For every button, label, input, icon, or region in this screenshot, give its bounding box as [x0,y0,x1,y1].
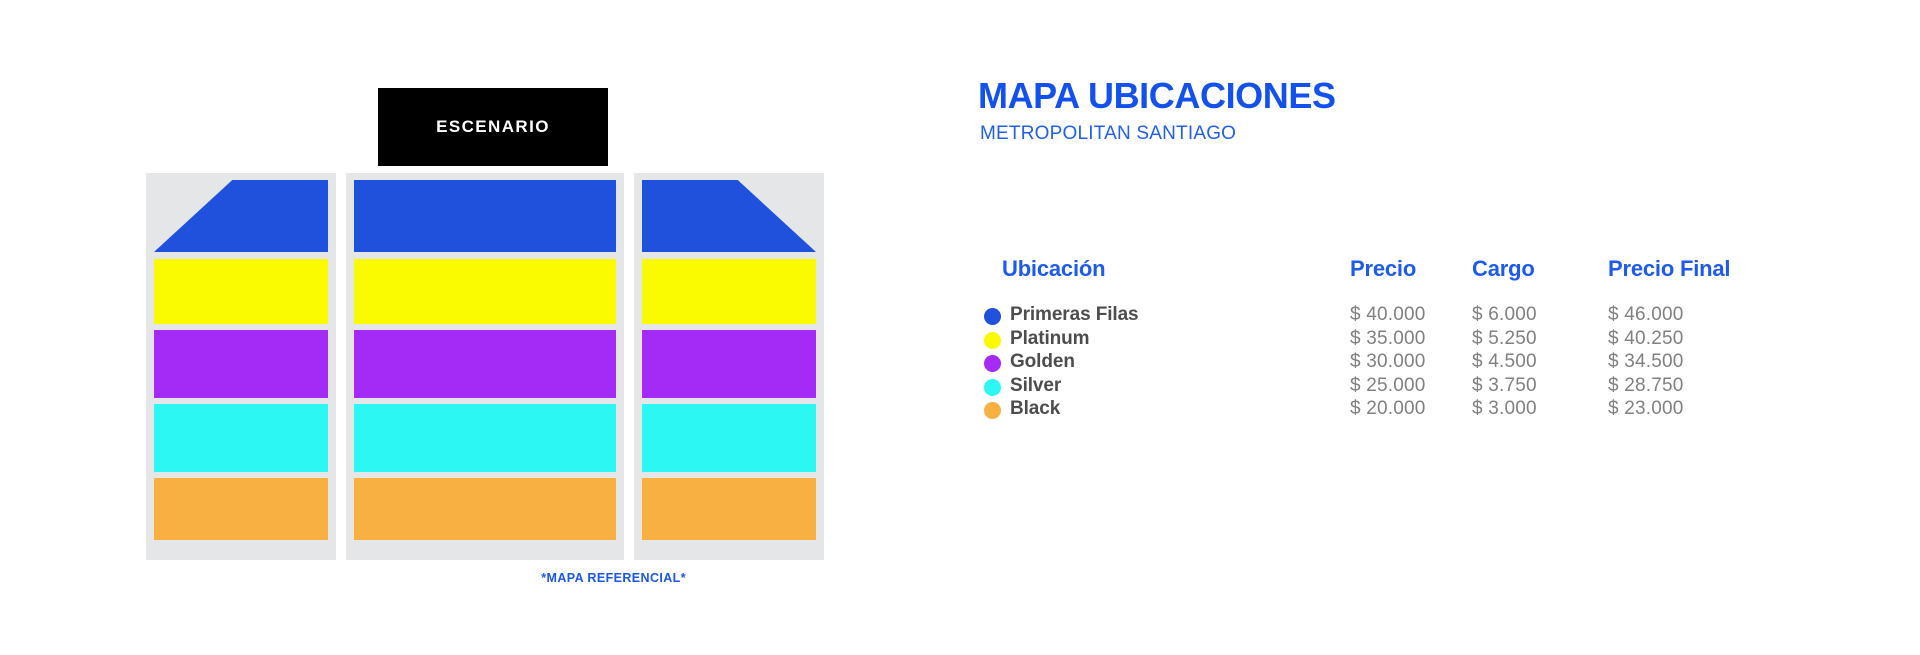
zone-name: Platinum [1010,328,1089,350]
zone-platinum-right[interactable] [642,259,816,324]
zone-primeras-filas-center[interactable] [354,180,616,252]
zone-name: Silver [1010,375,1061,397]
page-subtitle: METROPOLITAN SANTIAGO [980,124,1236,143]
seating-section-left[interactable] [146,173,336,560]
zone-color-dot-icon [984,332,1001,349]
zone-final-price: $ 23.000 [1608,398,1684,420]
zone-final-price: $ 28.750 [1608,375,1684,397]
zone-price: $ 20.000 [1350,398,1426,420]
zone-name: Golden [1010,351,1075,373]
zone-platinum-center[interactable] [354,259,616,324]
zone-golden-left[interactable] [154,330,328,398]
seating-sections [146,173,686,560]
zone-final-price: $ 46.000 [1608,304,1684,326]
zone-price: $ 30.000 [1350,351,1426,373]
zone-primeras-filas-right[interactable] [642,180,816,252]
seating-section-right[interactable] [634,173,824,560]
column-header-ubicacion: Ubicación [1002,256,1105,282]
zone-service-charge: $ 6.000 [1472,304,1537,326]
venue-seating-map: ESCENARIO [0,0,900,655]
zone-name: Primeras Filas [1010,304,1139,326]
zone-service-charge: $ 4.500 [1472,351,1537,373]
map-footnote: *MAPA REFERENCIAL* [400,571,686,585]
zone-final-price: $ 40.250 [1608,328,1684,350]
zone-color-dot-icon [984,379,1001,396]
zone-price: $ 35.000 [1350,328,1426,350]
page-title: MAPA UBICACIONES [978,78,1336,114]
zone-golden-center[interactable] [354,330,616,398]
stage-block: ESCENARIO [378,88,608,166]
zone-platinum-left[interactable] [154,259,328,324]
zone-service-charge: $ 3.750 [1472,375,1537,397]
zone-price: $ 25.000 [1350,375,1426,397]
zone-service-charge: $ 3.000 [1472,398,1537,420]
zone-color-dot-icon [984,402,1001,419]
stage-label: ESCENARIO [436,117,550,137]
zone-primeras-filas-left[interactable] [154,180,328,252]
column-header-precio: Precio [1350,256,1416,282]
zone-silver-right[interactable] [642,404,816,472]
zone-black-right[interactable] [642,478,816,540]
seating-map-page: ESCENARIO [0,0,1920,655]
zone-service-charge: $ 5.250 [1472,328,1537,350]
table-row[interactable]: Platinum$ 35.000$ 5.250$ 40.250 [960,328,1920,352]
table-row[interactable]: Black$ 20.000$ 3.000$ 23.000 [960,398,1920,422]
zone-name: Black [1010,398,1060,420]
zone-final-price: $ 34.500 [1608,351,1684,373]
zone-price: $ 40.000 [1350,304,1426,326]
table-row[interactable]: Silver$ 25.000$ 3.750$ 28.750 [960,375,1920,399]
zone-color-dot-icon [984,355,1001,372]
zone-silver-center[interactable] [354,404,616,472]
pricing-table: Ubicación Precio Cargo Precio Final Prim… [960,256,1920,422]
zone-golden-right[interactable] [642,330,816,398]
zone-color-dot-icon [984,308,1001,325]
pricing-info-panel: MAPA UBICACIONES METROPOLITAN SANTIAGO U… [960,0,1920,655]
table-row[interactable]: Golden$ 30.000$ 4.500$ 34.500 [960,351,1920,375]
column-header-precio-final: Precio Final [1608,256,1730,282]
zone-silver-left[interactable] [154,404,328,472]
column-header-cargo: Cargo [1472,256,1535,282]
seating-section-center[interactable] [346,173,624,560]
zone-black-center[interactable] [354,478,616,540]
table-row[interactable]: Primeras Filas$ 40.000$ 6.000$ 46.000 [960,304,1920,328]
zone-black-left[interactable] [154,478,328,540]
pricing-table-header: Ubicación Precio Cargo Precio Final [960,256,1920,290]
pricing-table-body: Primeras Filas$ 40.000$ 6.000$ 46.000Pla… [960,304,1920,422]
